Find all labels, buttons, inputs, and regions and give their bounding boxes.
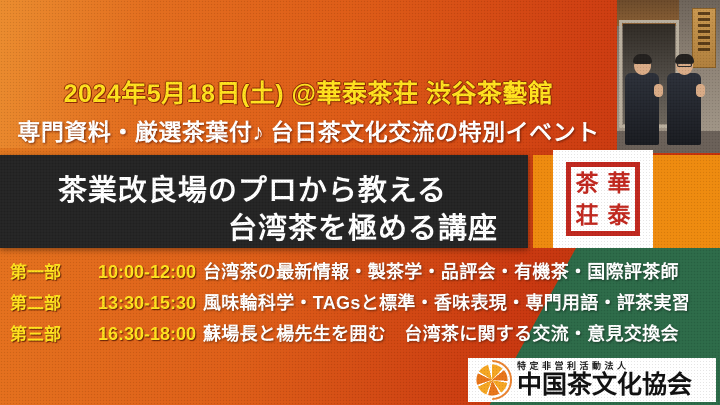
schedule-time: 16:30-18:00: [98, 324, 203, 345]
schedule-part-label: 第一部: [10, 258, 98, 283]
photo-person-right: [667, 56, 701, 145]
association-logo-text: 特定非営利活動法人 中国茶文化協会: [517, 362, 692, 398]
orange-divider-strip: [533, 155, 553, 248]
photo-person-right-head: [676, 56, 693, 75]
photo-person-left-body: [625, 73, 659, 145]
association-name: 中国茶文化協会: [517, 373, 692, 398]
photo-person-left: [625, 56, 659, 145]
schedule-description: 風味輪科学・TAGsと標準・香味表現・専門用語・評茶実習: [203, 289, 690, 315]
schedule-time: 10:00-12:00: [98, 262, 203, 283]
schedule-part-label: 第二部: [10, 289, 98, 314]
schedule-row: 第一部 10:00-12:00 台湾茶の最新情報・製茶学・品評会・有機茶・国際評…: [0, 258, 720, 289]
thumbs-up-icon: [654, 84, 663, 97]
title-band: 茶業改良場のプロから教える 台湾茶を極める講座: [0, 155, 528, 248]
event-subtitle: 専門資料・厳選茶葉付♪ 台日茶文化交流の特別イベント: [0, 113, 617, 147]
event-poster: 2024年5月18日(土) @華泰茶荘 渋谷茶藝館 専門資料・厳選茶葉付♪ 台日…: [0, 0, 720, 405]
event-photo: [617, 0, 720, 153]
photo-person-left-head: [634, 56, 651, 75]
schedule-part-label: 第三部: [10, 320, 98, 345]
schedule-row: 第三部 16:30-18:00 蘇場長と楊先生を囲む 台湾茶に関する交流・意見交…: [0, 320, 720, 351]
schedule-description: 台湾茶の最新情報・製茶学・品評会・有機茶・国際評茶師: [203, 258, 679, 284]
shop-seal-stamp-icon: 茶 華 荘 泰: [566, 162, 640, 236]
schedule-time: 13:30-15:30: [98, 293, 203, 314]
association-logo: 特定非営利活動法人 中国茶文化協会: [468, 358, 716, 402]
association-emblem-icon: [472, 360, 512, 400]
seal-char-3: 荘: [571, 199, 603, 231]
shop-seal-box: 茶 華 荘 泰: [553, 150, 653, 248]
orange-right-strip: [653, 155, 720, 248]
seal-char-1: 茶: [571, 167, 603, 199]
schedule-description: 蘇場長と楊先生を囲む 台湾茶に関する交流・意見交換会: [203, 320, 679, 346]
event-date-venue: 2024年5月18日(土) @華泰茶荘 渋谷茶藝館: [0, 74, 617, 110]
photo-person-right-body: [667, 73, 701, 145]
schedule-row: 第二部 13:30-15:30 風味輪科学・TAGsと標準・香味表現・専門用語・…: [0, 289, 720, 320]
seal-char-4: 泰: [603, 199, 635, 231]
seal-char-2: 華: [603, 167, 635, 199]
schedule-list: 第一部 10:00-12:00 台湾茶の最新情報・製茶学・品評会・有機茶・国際評…: [0, 258, 720, 351]
page-title-line2: 台湾茶を極める講座: [0, 205, 512, 247]
association-type-label: 特定非営利活動法人: [517, 362, 692, 371]
page-title-line1: 茶業改良場のプロから教える: [0, 167, 505, 209]
thumbs-up-icon: [696, 84, 705, 97]
